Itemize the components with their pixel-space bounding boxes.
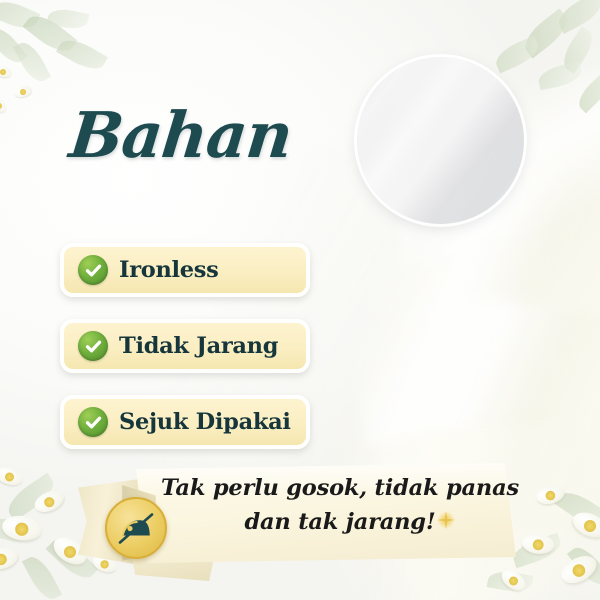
- check-circle-icon: [78, 331, 108, 361]
- page-title: Bahan: [66, 98, 295, 172]
- feature-pill-ironless[interactable]: Ironless: [60, 243, 310, 297]
- fabric-swatch-circle: [357, 57, 524, 224]
- sparkle-icon: [436, 510, 456, 530]
- ribbon-banner: Tak perlu gosok, tidak panas dan tak jar…: [78, 455, 523, 580]
- feature-list: Ironless Tidak Jarang Sejuk Dipakai: [60, 243, 310, 471]
- check-circle-icon: [78, 255, 108, 285]
- check-circle-icon: [78, 407, 108, 437]
- feature-pill-tidak-jarang[interactable]: Tidak Jarang: [60, 319, 310, 373]
- feature-label: Ironless: [119, 257, 219, 283]
- feature-pill-sejuk-dipakai[interactable]: Sejuk Dipakai: [60, 395, 310, 449]
- no-iron-icon: [105, 497, 167, 559]
- poster-canvas: Bahan Ironless Tidak Jarang: [0, 0, 600, 600]
- feature-label: Sejuk Dipakai: [119, 409, 291, 435]
- ribbon-text-line1: Tak perlu gosok, tidak panas: [160, 471, 520, 505]
- feature-label: Tidak Jarang: [119, 333, 278, 359]
- ribbon-text-line2: dan tak jarang!: [160, 505, 520, 539]
- ribbon-text: Tak perlu gosok, tidak panas dan tak jar…: [160, 471, 520, 539]
